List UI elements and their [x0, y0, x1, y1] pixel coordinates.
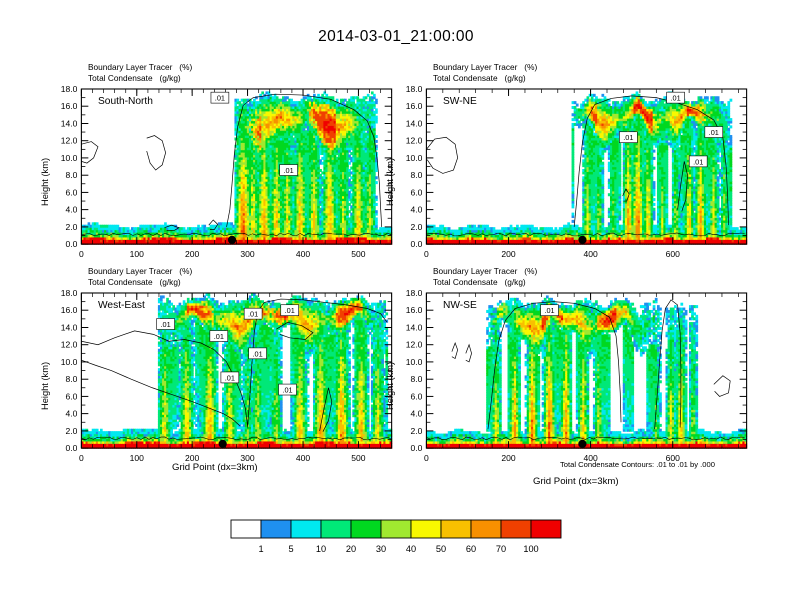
- svg-text:10.0: 10.0: [61, 153, 78, 163]
- colorbar-label: 60: [466, 544, 476, 554]
- svg-text:8.0: 8.0: [66, 170, 78, 180]
- panel-direction-label: South-North: [98, 96, 153, 107]
- y-axis-label: Height (km): [40, 158, 50, 206]
- plot-field: [81, 91, 392, 244]
- contour-label: .01: [244, 308, 262, 319]
- y-axis-label: Height (km): [40, 362, 50, 410]
- svg-text:300: 300: [240, 249, 255, 259]
- plot-field: [81, 293, 392, 449]
- page-title: 2014-03-01_21:00:00: [0, 28, 792, 46]
- svg-text:12.0: 12.0: [61, 136, 78, 146]
- svg-text:400: 400: [296, 249, 311, 259]
- contour-label: .01: [281, 305, 299, 316]
- colorbar-cell: [501, 520, 531, 538]
- y-axis-label: Height (km): [385, 158, 395, 206]
- panel-header-south-north: Boundary Layer Tracer (%)Total Condensat…: [88, 62, 192, 83]
- colorbar-label: 5: [288, 544, 293, 554]
- panel-west-east: 0.02.04.06.08.010.012.014.016.018.001002…: [80, 292, 398, 470]
- colorbar-label: 70: [496, 544, 506, 554]
- panel-sw-ne: 0.02.04.06.08.010.012.014.016.018.002004…: [425, 88, 753, 266]
- contour-label: .01: [249, 348, 267, 359]
- colorbar-label: 1: [258, 544, 263, 554]
- colorbar-cell: [381, 520, 411, 538]
- x-axis-label-right: Grid Point (dx=3km): [533, 476, 619, 487]
- contour-label: .01: [210, 331, 228, 342]
- colorbar-cell: [471, 520, 501, 538]
- location-marker: [228, 236, 236, 244]
- colorbar-cell: [231, 520, 261, 538]
- svg-text:14.0: 14.0: [61, 118, 78, 128]
- plot-field: [426, 295, 747, 448]
- colorbar-cell: [441, 520, 471, 538]
- location-marker: [578, 236, 586, 244]
- svg-text:6.0: 6.0: [66, 187, 78, 197]
- colorbar-label: 20: [346, 544, 356, 554]
- contour-label: .01: [280, 165, 298, 176]
- svg-text:.01: .01: [215, 94, 225, 103]
- panel-nw-se: 0.02.04.06.08.010.012.014.016.018.002004…: [425, 292, 753, 470]
- colorbar-label: 30: [376, 544, 386, 554]
- svg-text:0.0: 0.0: [66, 239, 78, 249]
- colorbar-cell: [351, 520, 381, 538]
- panel-south-north: 0.02.04.06.08.010.012.014.016.018.001002…: [80, 88, 398, 266]
- contour-label: .01: [689, 156, 707, 167]
- panel-header-sw-ne: Boundary Layer Tracer (%)Total Condensat…: [433, 62, 537, 83]
- svg-text:200: 200: [185, 249, 200, 259]
- colorbar-label: 50: [436, 544, 446, 554]
- colorbar-label: 100: [523, 544, 538, 554]
- x-axis-label-left: Grid Point (dx=3km): [172, 462, 258, 473]
- colorbar-cell: [411, 520, 441, 538]
- contour-label: .01: [619, 132, 637, 143]
- panel-header-west-east: Boundary Layer Tracer (%)Total Condensat…: [88, 266, 192, 287]
- svg-text:0: 0: [79, 249, 84, 259]
- contour-label: .01: [279, 384, 297, 395]
- panel-direction-label: SW-NE: [443, 96, 477, 107]
- colorbar-cell: [291, 520, 321, 538]
- svg-text:500: 500: [351, 249, 366, 259]
- colorbar-cell: [531, 520, 561, 538]
- plot-field: [426, 91, 747, 244]
- svg-text:.01: .01: [284, 166, 294, 175]
- colorbar-cell: [261, 520, 291, 538]
- colorbar-label: 10: [316, 544, 326, 554]
- svg-text:100: 100: [130, 249, 145, 259]
- colorbar: 1510203040506070100: [0, 516, 792, 566]
- colorbar-cell: [321, 520, 351, 538]
- contour-label: .01: [541, 305, 559, 316]
- panel-header-nw-se: Boundary Layer Tracer (%)Total Condensat…: [433, 266, 537, 287]
- location-marker: [578, 440, 586, 448]
- contour-label: .01: [667, 92, 685, 103]
- panel-direction-label: West-East: [98, 300, 145, 311]
- contour-note: Total Condensate Contours: .01 to .01 by…: [560, 460, 715, 469]
- contour-label: .01: [157, 319, 175, 330]
- contour-label: .01: [211, 92, 229, 103]
- panel-direction-label: NW-SE: [443, 300, 477, 311]
- contour-label: .01: [221, 372, 239, 383]
- y-axis-label: Height (km): [385, 362, 395, 410]
- svg-text:4.0: 4.0: [66, 205, 78, 215]
- svg-text:16.0: 16.0: [61, 101, 78, 111]
- colorbar-label: 40: [406, 544, 416, 554]
- contour-label: .01: [705, 127, 723, 138]
- svg-text:2.0: 2.0: [66, 222, 78, 232]
- svg-text:18.0: 18.0: [61, 84, 78, 94]
